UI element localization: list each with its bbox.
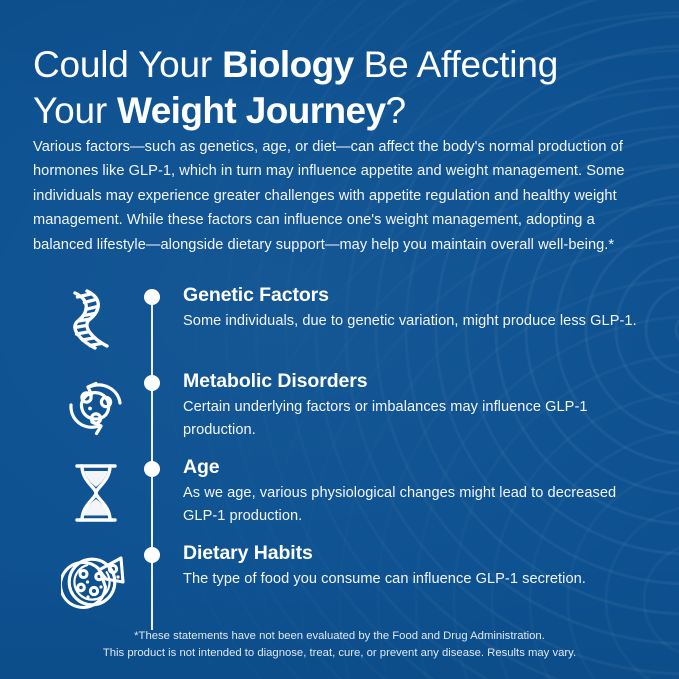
timeline-dot [144, 461, 160, 477]
list-item: Metabolic Disorders Certain underlying f… [0, 369, 679, 455]
disclaimer-line-2: This product is not intended to diagnose… [0, 645, 679, 662]
timeline-dot [144, 375, 160, 391]
list-item-description: As we age, various physiological changes… [183, 482, 653, 527]
list-item-title: Metabolic Disorders [183, 369, 653, 393]
list-item: Genetic Factors Some individuals, due to… [0, 283, 679, 369]
list-item: Age As we age, various physiological cha… [0, 455, 679, 541]
disclaimer-line-1: *These statements have not been evaluate… [0, 628, 679, 645]
timeline-dot [144, 289, 160, 305]
list-item-description: The type of food you consume can influen… [183, 568, 653, 591]
intro-paragraph: Various factors—such as genetics, age, o… [33, 135, 641, 258]
pizza-slice-icon [58, 541, 134, 617]
headline-line2-part2: ? [386, 90, 406, 131]
page-title: Could Your Biology Be Affecting Your Wei… [33, 42, 648, 134]
hourglass-icon [58, 455, 134, 531]
headline-line1-part1: Could Your [33, 44, 222, 85]
list-item: Dietary Habits The type of food you cons… [0, 541, 679, 627]
timeline-dot [144, 547, 160, 563]
list-item-description: Certain underlying factors or imbalances… [183, 396, 653, 441]
dna-helix-icon [58, 283, 134, 359]
infographic-poster: Could Your Biology Be Affecting Your Wei… [0, 0, 679, 679]
metabolism-molecule-icon [58, 369, 134, 445]
headline-line2-emphasis: Weight Journey [117, 90, 385, 131]
list-item-description: Some individuals, due to genetic variati… [183, 310, 653, 333]
legal-disclaimer: *These statements have not been evaluate… [0, 628, 679, 661]
list-item-title: Genetic Factors [183, 283, 653, 307]
list-item-title: Age [183, 455, 653, 479]
headline-line1-part2: Be Affecting [354, 44, 558, 85]
headline-line1-emphasis: Biology [222, 44, 353, 85]
list-item-title: Dietary Habits [183, 541, 653, 565]
headline-line2-part1: Your [33, 90, 117, 131]
